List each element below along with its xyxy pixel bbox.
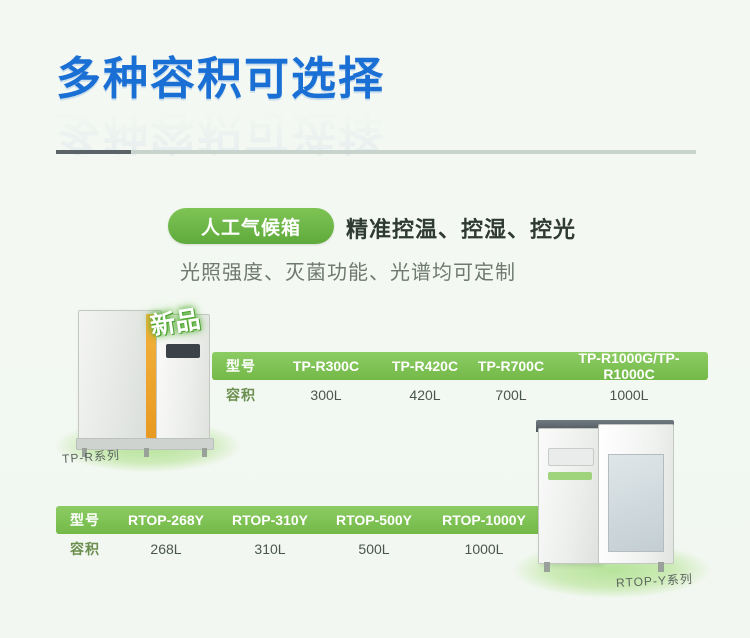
- volume-cell: 420L: [382, 387, 468, 403]
- spec-table-rtop-y: 型号 RTOP-268Y RTOP-310Y RTOP-500Y RTOP-10…: [56, 506, 546, 564]
- row-label-model: 型号: [212, 356, 270, 376]
- feature-subline: 光照强度、灭菌功能、光谱均可定制: [180, 256, 516, 285]
- cabinet-foot: [202, 448, 207, 457]
- model-cell: RTOP-500Y: [322, 512, 426, 528]
- table-row: 容积 300L 420L 700L 1000L: [212, 380, 708, 410]
- poster-page: 多种容积可选择 多种容积可选择 人工气候箱 精准控温、控湿、控光 光照强度、灭菌…: [0, 0, 750, 638]
- volume-cell: 300L: [270, 387, 382, 403]
- divider-rule: [56, 150, 696, 154]
- feature-headline: 精准控温、控湿、控光: [346, 212, 576, 244]
- row-label-volume: 容积: [212, 385, 270, 405]
- spec-table-tp-r: 型号 TP-R300C TP-R420C TP-R700C TP-R1000G/…: [212, 352, 708, 410]
- volume-cell: 1000L: [554, 387, 704, 403]
- new-product-badge: 新品: [147, 299, 202, 342]
- category-pill: 人工气候箱: [168, 208, 334, 244]
- volume-cell: 500L: [322, 541, 426, 557]
- model-cell: TP-R300C: [270, 358, 382, 374]
- brand-badge: [548, 472, 592, 480]
- volume-cell: 700L: [468, 387, 554, 403]
- model-cell: TP-R420C: [382, 358, 468, 374]
- page-title-reflection: 多种容积可选择: [56, 104, 385, 169]
- table-row: 容积 268L 310L 500L 1000L: [56, 534, 546, 564]
- row-label-model: 型号: [56, 510, 114, 530]
- volume-cell: 268L: [114, 541, 218, 557]
- cabinet-window: [608, 454, 664, 552]
- control-panel-icon: [548, 448, 594, 466]
- control-panel-icon: [166, 344, 200, 358]
- page-title: 多种容积可选择: [56, 42, 385, 107]
- model-cell: RTOP-268Y: [114, 512, 218, 528]
- model-cell: TP-R700C: [468, 358, 554, 374]
- cabinet-foot: [144, 448, 149, 457]
- cabinet-foot: [544, 562, 550, 572]
- model-cell: TP-R1000G/TP-R1000C: [554, 350, 704, 382]
- volume-cell: 310L: [218, 541, 322, 557]
- table-row: 型号 RTOP-268Y RTOP-310Y RTOP-500Y RTOP-10…: [56, 506, 546, 534]
- row-label-volume: 容积: [56, 539, 114, 559]
- model-cell: RTOP-310Y: [218, 512, 322, 528]
- table-row: 型号 TP-R300C TP-R420C TP-R700C TP-R1000G/…: [212, 352, 708, 380]
